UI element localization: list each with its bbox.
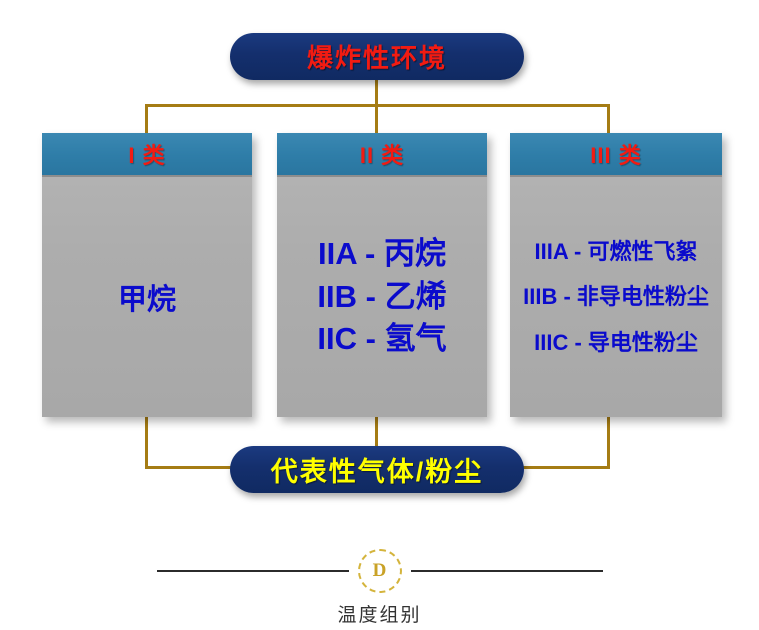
class-column-3-header: III 类	[510, 133, 722, 177]
list-item: IIA - 丙烷	[318, 238, 446, 271]
list-item: IIC - 氢气	[317, 323, 446, 356]
class-column-1-body: 甲烷	[42, 177, 252, 417]
footer-caption: 温度组别	[0, 600, 759, 627]
class-column-3[interactable]: III 类 IIIA - 可燃性飞絮 IIIB - 非导电性粉尘 IIIC - …	[510, 133, 722, 417]
list-item: IIIC - 导电性粉尘	[534, 331, 698, 354]
connector-riser-col-1	[145, 413, 148, 469]
divider-badge-icon: D	[358, 549, 402, 593]
class-column-1[interactable]: I 类 甲烷	[42, 133, 252, 417]
class-column-2-header: II 类	[277, 133, 487, 177]
class-column-2-header-label: II 类	[360, 138, 404, 170]
node-representative-gas-dust[interactable]: 代表性气体/粉尘	[230, 446, 524, 493]
divider-badge-letter: D	[373, 560, 387, 582]
class-column-3-body: IIIA - 可燃性飞絮 IIIB - 非导电性粉尘 IIIC - 导电性粉尘	[510, 177, 722, 417]
connector-drop-col-3	[607, 104, 610, 136]
class-column-3-header-label: III 类	[590, 138, 641, 170]
list-item: IIIA - 可燃性飞絮	[535, 240, 698, 263]
list-item: 甲烷	[118, 276, 176, 318]
diagram-canvas: 爆炸性环境 I 类 甲烷 II 类 IIA - 丙烷 IIB - 乙烯 IIC …	[0, 0, 759, 630]
connector-top-bus	[145, 104, 610, 107]
connector-riser-col-3	[607, 413, 610, 469]
class-column-1-header: I 类	[42, 133, 252, 177]
node-explosive-atmosphere-label: 爆炸性环境	[307, 38, 447, 75]
divider-line-right	[411, 570, 603, 572]
list-item: IIIB - 非导电性粉尘	[523, 285, 709, 308]
node-explosive-atmosphere[interactable]: 爆炸性环境	[230, 33, 524, 80]
list-item: IIB - 乙烯	[317, 281, 446, 314]
divider-line-left	[157, 570, 349, 572]
class-column-2[interactable]: II 类 IIA - 丙烷 IIB - 乙烯 IIC - 氢气	[277, 133, 487, 417]
footer-divider: D	[0, 546, 759, 596]
class-column-2-body: IIA - 丙烷 IIB - 乙烯 IIC - 氢气	[277, 177, 487, 417]
node-representative-gas-dust-label: 代表性气体/粉尘	[271, 450, 484, 489]
class-column-1-header-label: I 类	[128, 138, 165, 170]
connector-drop-col-1	[145, 104, 148, 136]
